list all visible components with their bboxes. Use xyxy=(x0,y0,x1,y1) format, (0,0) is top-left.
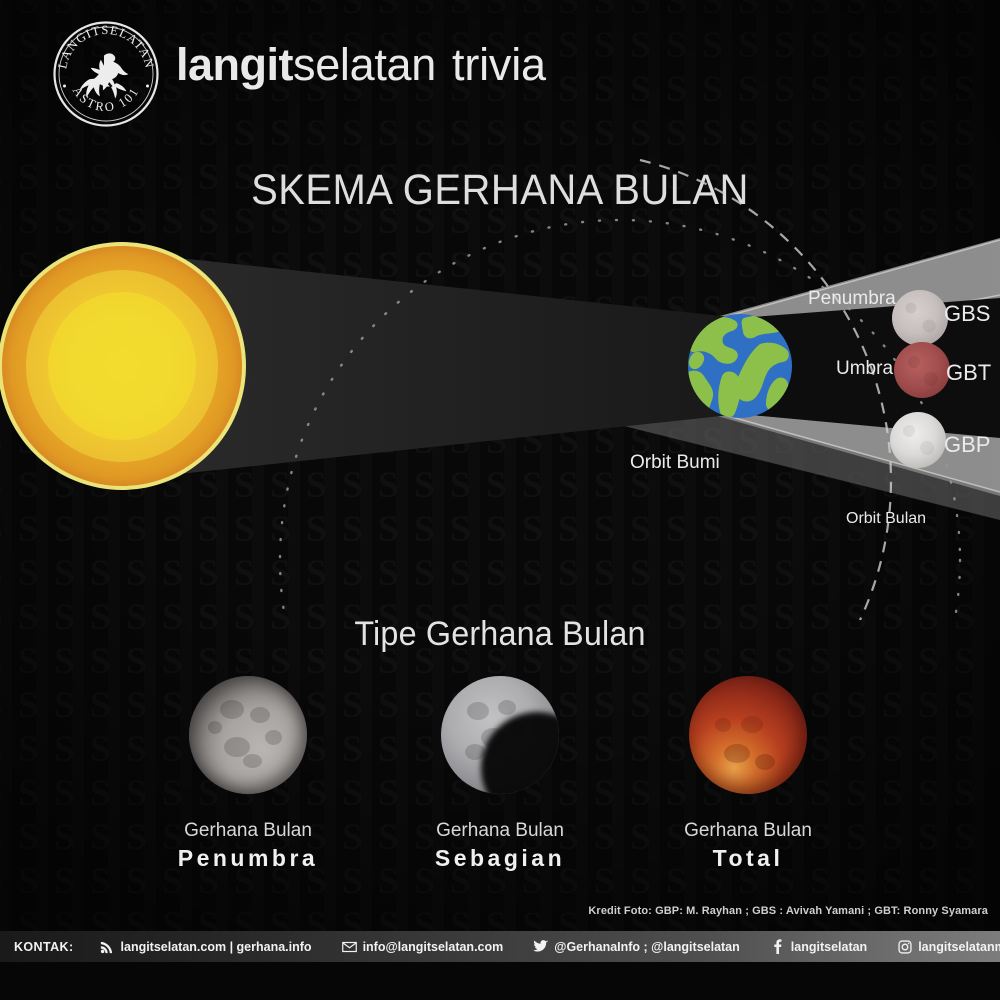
footer-website-text: langitselatan.com | gerhana.info xyxy=(121,940,312,954)
type-caption-penumbra: Gerhana Bulan Penumbra xyxy=(118,818,378,871)
types-row: Gerhana Bulan Penumbra Gerhana Bulan Seb… xyxy=(0,676,1000,876)
footer-facebook-text: langitselatan xyxy=(791,940,867,954)
type-caption-line2: Total xyxy=(618,845,878,871)
type-caption-line2: Sebagian xyxy=(370,845,630,871)
footer-item-email[interactable]: info@langitselatan.com xyxy=(342,931,504,962)
footer-item-website[interactable]: langitselatan.com | gerhana.info xyxy=(100,931,312,962)
footer-contact-bar: KONTAK: langitselatan.com | gerhana.info… xyxy=(0,931,1000,962)
label-orbit-bulan: Orbit Bulan xyxy=(846,510,926,528)
moon-craters xyxy=(189,676,307,794)
footer-email-text: info@langitselatan.com xyxy=(363,940,504,954)
footer-bottom-filler xyxy=(0,962,1000,1000)
instagram-icon xyxy=(897,939,912,954)
partial-eclipsed-moon-image xyxy=(441,676,559,794)
twitter-icon xyxy=(533,939,548,954)
type-caption-total: Gerhana Bulan Total xyxy=(618,818,878,871)
type-caption-line1: Gerhana Bulan xyxy=(184,820,312,841)
photo-credit: Kredit Foto: GBP: M. Rayhan ; GBS : Aviv… xyxy=(588,905,988,917)
footer-item-instagram[interactable]: langitselatanmedia xyxy=(897,931,1000,962)
label-gbt: GBT xyxy=(946,360,991,386)
type-item-penumbra: Gerhana Bulan Penumbra xyxy=(118,676,378,871)
label-penumbra: Penumbra xyxy=(808,288,896,310)
footer-item-twitter[interactable]: @GerhanaInfo ; @langitselatan xyxy=(533,931,740,962)
infographic-poster: SSSSSSSSSSSSSSSSSSSSSSSSSSSSSSSSSSSSSSSS… xyxy=(0,0,1000,1000)
rss-icon xyxy=(100,939,115,954)
type-caption-sebagian: Gerhana Bulan Sebagian xyxy=(370,818,630,871)
label-gbs: GBS xyxy=(944,301,990,327)
footer-item-facebook[interactable]: langitselatan xyxy=(770,931,867,962)
footer-instagram-text: langitselatanmedia xyxy=(918,940,1000,954)
type-caption-line1: Gerhana Bulan xyxy=(436,820,564,841)
total-eclipsed-blood-moon-image xyxy=(689,676,807,794)
type-item-sebagian: Gerhana Bulan Sebagian xyxy=(370,676,630,871)
footer-kontak-label: KONTAK: xyxy=(0,931,74,962)
sun xyxy=(0,242,246,490)
diagram-moon-gbt xyxy=(894,342,950,398)
label-gbp: GBP xyxy=(944,432,990,458)
types-section-title: Tipe Gerhana Bulan xyxy=(25,615,975,654)
footer-twitter-text: @GerhanaInfo ; @langitselatan xyxy=(554,940,740,954)
moon-craters xyxy=(689,676,807,794)
diagram-moon-gbp xyxy=(890,412,946,468)
penumbral-moon-image xyxy=(189,676,307,794)
label-orbit-bumi: Orbit Bumi xyxy=(630,452,720,474)
type-item-total: Gerhana Bulan Total xyxy=(618,676,878,871)
diagram-moon-gbs xyxy=(892,290,948,346)
label-umbra: Umbra xyxy=(836,358,893,380)
type-caption-line1: Gerhana Bulan xyxy=(684,820,812,841)
type-caption-line2: Penumbra xyxy=(118,845,378,871)
facebook-icon xyxy=(770,939,785,954)
envelope-icon xyxy=(342,939,357,954)
